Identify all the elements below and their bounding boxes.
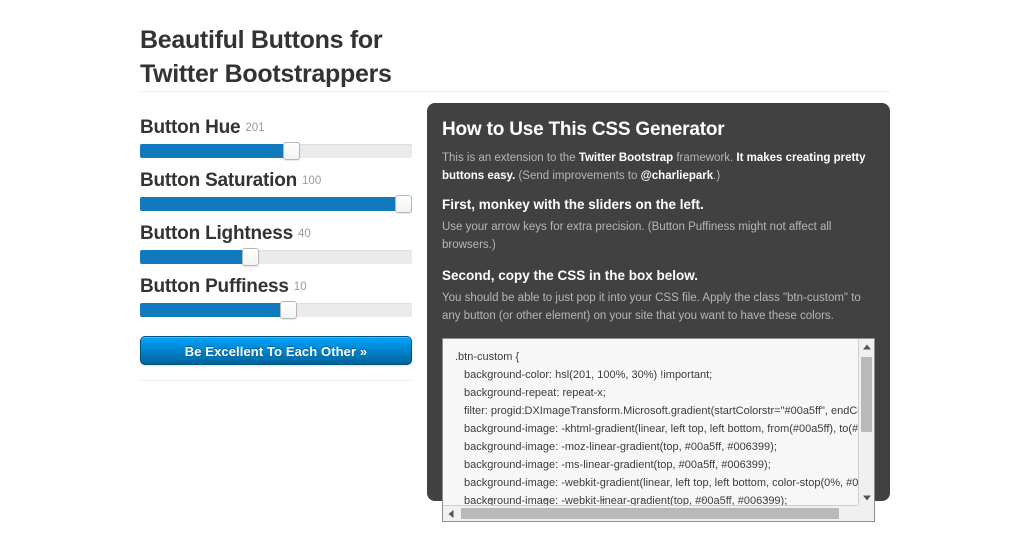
slider-label-row: Button Saturation100 (140, 171, 412, 190)
page-title: Beautiful Buttons for Twitter Bootstrapp… (140, 24, 890, 92)
horizontal-scroll-thumb[interactable] (461, 508, 839, 519)
page-root: Beautiful Buttons for Twitter Bootstrapp… (0, 0, 1024, 547)
demo-button-wrap: Be Excellent To Each Other » (140, 336, 412, 365)
slider-track-puffiness[interactable] (140, 303, 412, 317)
css-output-line: background-image: -ms-linear-gradient(to… (455, 456, 858, 474)
horizontal-scrollbar[interactable] (443, 505, 874, 521)
slider-value-hue: 201 (245, 122, 264, 134)
slider-handle-puffiness[interactable] (280, 301, 297, 319)
step-one-title: First, monkey with the sliders on the le… (442, 197, 875, 214)
slider-value-lightness: 40 (298, 228, 311, 240)
css-output-line: background-image: -webkit-gradient(linea… (455, 474, 858, 492)
slider-handle-saturation[interactable] (395, 195, 412, 213)
slider-group-puffiness: Button Puffiness10 (140, 277, 412, 317)
vertical-scroll-thumb[interactable] (861, 357, 872, 432)
css-output-line: filter: progid:DXImageTransform.Microsof… (455, 402, 858, 420)
slider-label-saturation: Button Saturation (140, 170, 297, 191)
css-output-line: background-color: hsl(201, 100%, 30%) !i… (455, 366, 858, 384)
controls-divider (140, 380, 412, 382)
slider-value-saturation: 100 (302, 175, 321, 187)
slider-group-lightness: Button Lightness40 (140, 224, 412, 264)
slider-value-puffiness: 10 (294, 281, 307, 293)
css-clipped-line: background-image: -webkit-gradient(linea… (455, 499, 855, 504)
slider-group-saturation: Button Saturation100 (140, 171, 412, 211)
vertical-scrollbar[interactable] (858, 339, 874, 505)
step-two-title: Second, copy the CSS in the box below. (442, 268, 875, 285)
slider-label-row: Button Puffiness10 (140, 277, 412, 296)
scroll-up-arrow-icon[interactable] (859, 339, 874, 354)
css-output-line: .btn-custom { (455, 348, 858, 366)
slider-fill-saturation (140, 197, 412, 211)
slider-fill-hue (140, 144, 292, 158)
intro-text-4: .) (713, 170, 720, 182)
slider-fill-puffiness (140, 303, 290, 317)
intro-link-charliepark[interactable]: @charliepark (641, 170, 714, 182)
css-output-textarea[interactable]: .btn-custom {background-color: hsl(201, … (442, 338, 875, 522)
slider-handle-hue[interactable] (283, 142, 300, 160)
demo-preview-button[interactable]: Be Excellent To Each Other » (140, 336, 412, 365)
intro-text-3: (Send improvements to (515, 170, 640, 182)
header-divider (140, 91, 890, 93)
intro-text-2: framework. (673, 152, 736, 164)
triangle-left-icon (448, 510, 453, 518)
panel-title: How to Use This CSS Generator (442, 119, 875, 142)
slider-track-lightness[interactable] (140, 250, 412, 264)
intro-bold-bootstrap: Twitter Bootstrap (579, 152, 673, 164)
step-two-body: You should be able to just pop it into y… (442, 290, 875, 326)
controls-column: Button Hue201 Button Saturation100 Butto… (140, 118, 412, 382)
slider-label-row: Button Hue201 (140, 118, 412, 137)
css-output-content: .btn-custom {background-color: hsl(201, … (443, 339, 858, 505)
triangle-up-icon (863, 344, 871, 349)
slider-label-hue: Button Hue (140, 117, 240, 138)
slider-group-hue: Button Hue201 (140, 118, 412, 158)
scroll-down-arrow-icon[interactable] (859, 490, 874, 505)
slider-fill-lightness (140, 250, 249, 264)
slider-label-lightness: Button Lightness (140, 223, 293, 244)
panel-intro-paragraph: This is an extension to the Twitter Boot… (442, 150, 875, 186)
step-one-body: Use your arrow keys for extra precision.… (442, 219, 875, 255)
scrollbar-corner (858, 505, 874, 521)
slider-track-hue[interactable] (140, 144, 412, 158)
scroll-left-arrow-icon[interactable] (443, 506, 458, 521)
page-header: Beautiful Buttons for Twitter Bootstrapp… (140, 24, 890, 92)
intro-text-1: This is an extension to the (442, 152, 579, 164)
css-output-line: background-image: -moz-linear-gradient(t… (455, 438, 858, 456)
slider-track-saturation[interactable] (140, 197, 412, 211)
css-output-line: background-repeat: repeat-x; (455, 384, 858, 402)
slider-label-puffiness: Button Puffiness (140, 276, 289, 297)
slider-handle-lightness[interactable] (242, 248, 259, 266)
triangle-down-icon (863, 495, 871, 500)
slider-label-row: Button Lightness40 (140, 224, 412, 243)
css-output-line: background-image: -khtml-gradient(linear… (455, 420, 858, 438)
css-clipped-line-wrap: background-image: -webkit-gradient(linea… (455, 499, 855, 504)
instructions-panel: How to Use This CSS Generator This is an… (427, 103, 890, 501)
